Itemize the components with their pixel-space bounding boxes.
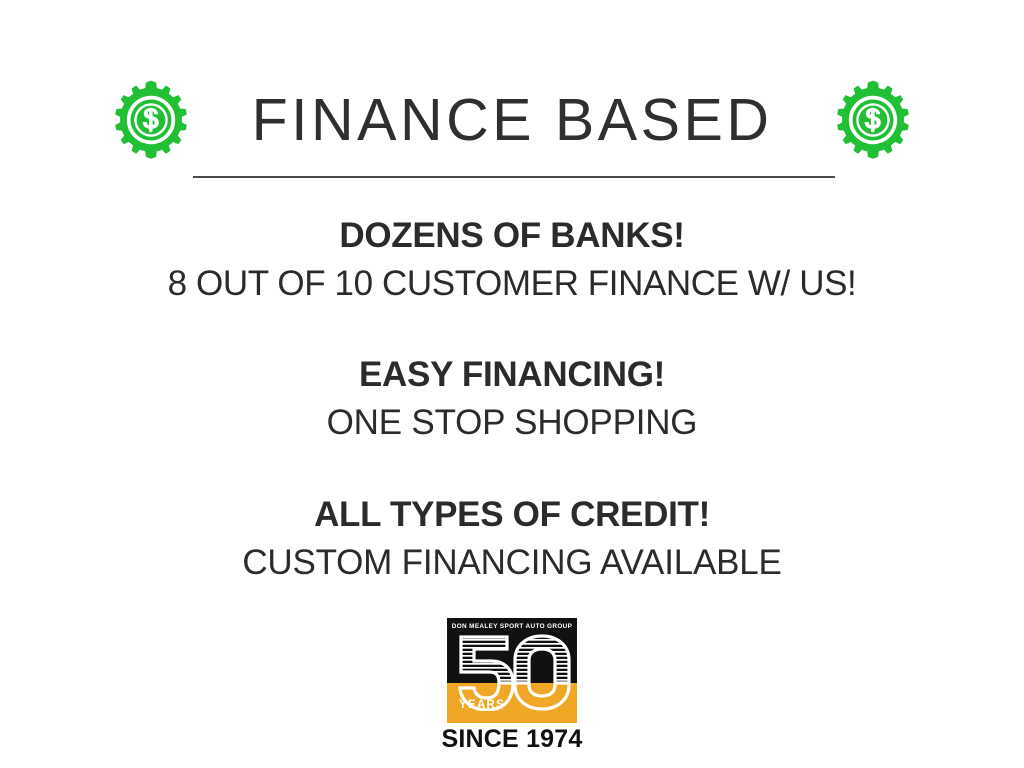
copy-block: DOZENS OF BANKS! 8 OUT OF 10 CUSTOMER FI… [0,212,1024,309]
page-title: FINANCE BASED [192,91,832,150]
title-divider [193,176,835,178]
since-label: SINCE 1974 [442,727,583,752]
copy-block: ALL TYPES OF CREDIT! CUSTOM FINANCING AV… [0,491,1024,588]
years-label: YEARS [459,700,505,712]
copy-headline: ALL TYPES OF CREDIT! [0,491,1024,539]
slide-header: FINANCE BASED [0,70,1024,180]
dealer-group-name: DON MEALEY SPORT AUTO GROUP [447,624,577,630]
finance-based-slide: FINANCE BASED [0,0,1024,768]
money-gear-icon [832,79,914,161]
money-gear-icon [110,79,192,161]
copy-headline: DOZENS OF BANKS! [0,212,1024,260]
dealer-logo: DON MEALEY SPORT AUTO GROUP [0,618,1024,752]
header-row: FINANCE BASED [0,70,1024,170]
copy-headline: EASY FINANCING! [0,351,1024,399]
copy-subline: 8 OUT OF 10 CUSTOMER FINANCE W/ US! [0,260,1024,308]
copy-subline: CUSTOM FINANCING AVAILABLE [0,539,1024,587]
copy-subline: ONE STOP SHOPPING [0,399,1024,447]
body-copy: DOZENS OF BANKS! 8 OUT OF 10 CUSTOMER FI… [0,212,1024,588]
copy-block: EASY FINANCING! ONE STOP SHOPPING [0,351,1024,448]
anniversary-badge: DON MEALEY SPORT AUTO GROUP [447,618,577,723]
